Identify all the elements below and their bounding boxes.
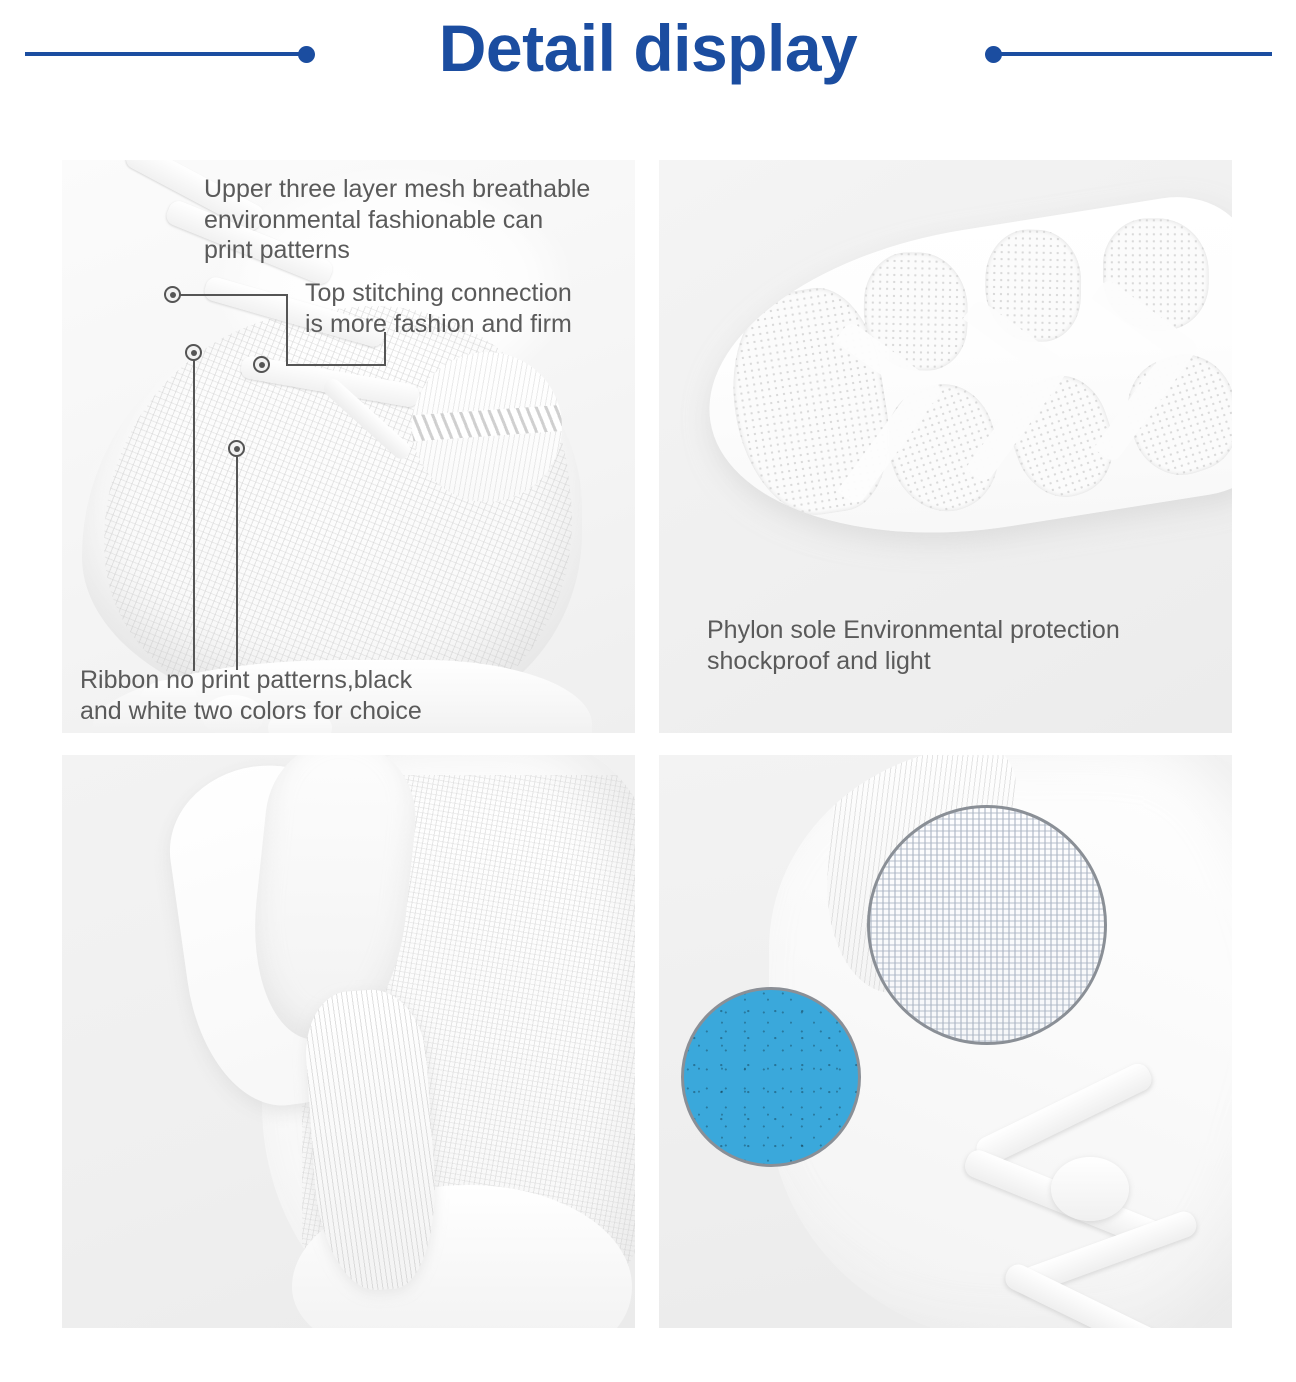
top-stitching-note: Top stitching connection is more fashion…	[305, 278, 625, 339]
leader-line	[286, 294, 288, 366]
mesh-texture-circle	[867, 805, 1107, 1045]
callout-marker[interactable]	[253, 356, 270, 373]
leader-line	[286, 364, 386, 366]
panel-phylon-sole: Phylon sole Environmental protection sho…	[659, 160, 1232, 733]
lace-knot	[1051, 1157, 1129, 1221]
collar-photo	[62, 755, 635, 1328]
phylon-sole-note: Phylon sole Environmental protection sho…	[707, 615, 1217, 676]
callout-marker[interactable]	[185, 344, 202, 361]
stitch-texture	[412, 404, 562, 442]
stitching-closeup-circle	[412, 352, 562, 502]
callout-marker[interactable]	[228, 440, 245, 457]
detail-panel-grid: Upper three layer mesh breathable enviro…	[62, 160, 1232, 1340]
page-title: Detail display	[0, 10, 1296, 86]
panel-upper-mesh: Upper three layer mesh breathable enviro…	[62, 160, 635, 733]
leader-line	[180, 294, 288, 296]
upper-mesh-note: Upper three layer mesh breathable enviro…	[204, 174, 634, 266]
panel-ribbon-collar: Ribbon Fashionable and firm easy to wear…	[62, 755, 635, 1328]
outsole	[687, 186, 1232, 570]
blue-insole-circle	[681, 987, 861, 1167]
leader-line	[384, 332, 386, 366]
header-rule-right	[1000, 52, 1272, 56]
callout-marker[interactable]	[164, 286, 181, 303]
leader-line	[193, 353, 195, 671]
page-header: Detail display	[0, 0, 1296, 130]
panel-high-poly-insole: the other side High poly insole Breathab…	[659, 755, 1232, 1328]
ribbon-note: Ribbon no print patterns,black and white…	[80, 665, 500, 726]
leader-line	[236, 448, 238, 670]
